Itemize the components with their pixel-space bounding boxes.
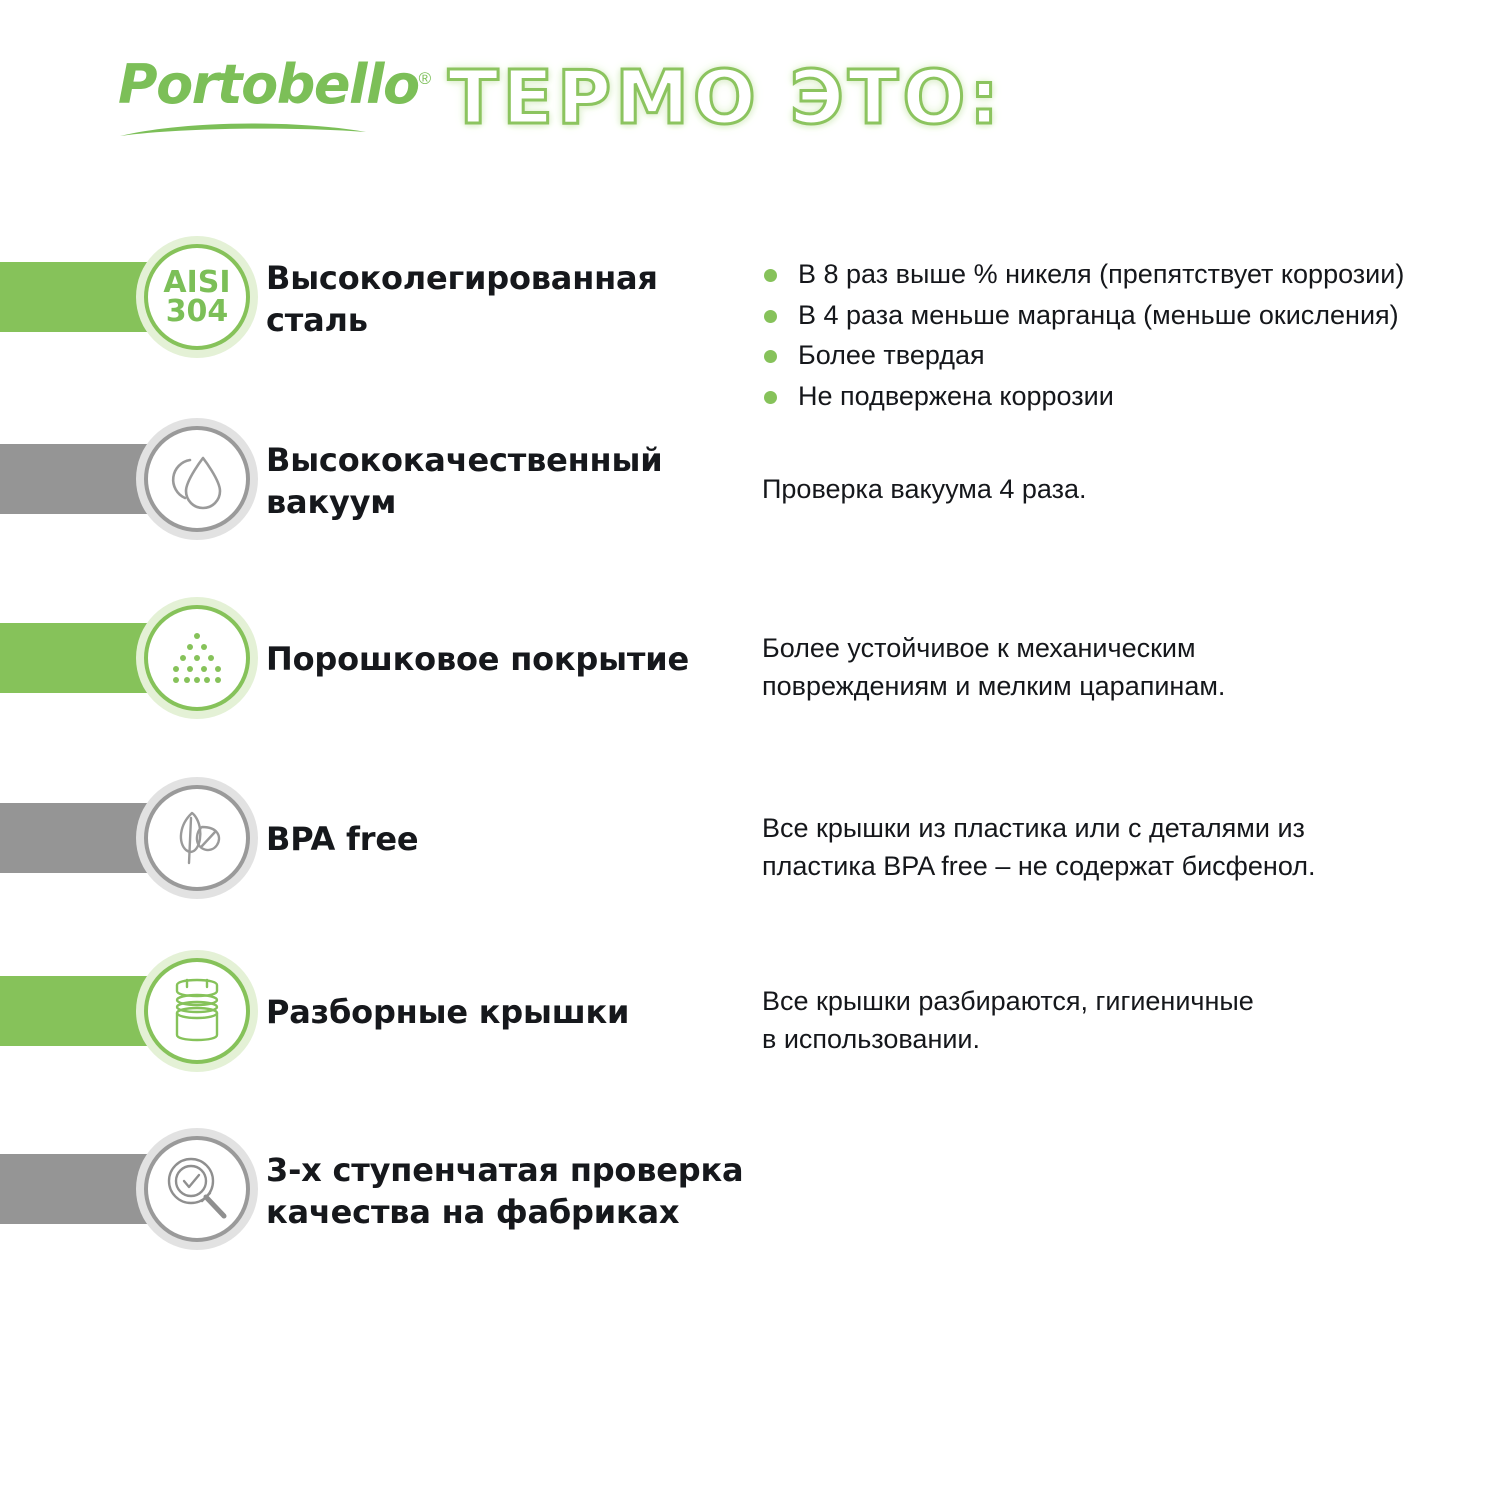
droplet-glyph	[164, 446, 230, 512]
feature-bar	[0, 1154, 152, 1224]
water-droplet-icon	[136, 418, 258, 540]
disassembled-lid-icon	[136, 950, 258, 1072]
list-item: Не подвержена коррозии	[762, 376, 1404, 417]
badge-glyph	[144, 958, 250, 1064]
leaves-icon	[136, 777, 258, 899]
bullet-dot-icon	[764, 350, 777, 363]
powder-dots-icon	[136, 597, 258, 719]
feature-description: Все крышки разбираются, гигиеничные в ис…	[762, 982, 1254, 1059]
feature-title: Порошковое покрытие	[266, 639, 689, 681]
feature-bar	[0, 262, 152, 332]
feature-description: Проверка вакуума 4 раза.	[762, 470, 1087, 508]
aisi-badge-line2: 304	[163, 297, 230, 326]
feature-title: Высоколегированная сталь	[266, 258, 658, 341]
powder-dots-glyph	[166, 627, 228, 689]
lid-parts-glyph	[163, 975, 231, 1047]
feature-bar	[0, 623, 152, 693]
aisi-badge-line1: AISI	[163, 268, 230, 297]
aisi-badge-text: AISI 304	[163, 268, 230, 327]
feature-title: BPA free	[266, 819, 418, 861]
page-title: ТЕРМО ЭТО:	[448, 52, 1003, 145]
bullet-text: Более твердая	[798, 340, 985, 370]
badge-glyph	[144, 785, 250, 891]
feature-title: Высококачественный вакуум	[266, 440, 662, 523]
bullet-dot-icon	[764, 310, 777, 323]
brand-logo-wordmark: Portobello	[118, 53, 419, 116]
feature-bar	[0, 803, 152, 873]
bullet-text: В 4 раза меньше марганца (меньше окислен…	[798, 300, 1399, 330]
feature-title: 3-х ступенчатая проверка качества на фаб…	[266, 1150, 743, 1233]
badge-glyph	[144, 1136, 250, 1242]
bullet-dot-icon	[764, 391, 777, 404]
feature-description: Более устойчивое к механическим поврежде…	[762, 629, 1225, 706]
registered-trademark-icon: ®	[419, 69, 430, 88]
feature-bar	[0, 976, 152, 1046]
magnifier-check-icon	[136, 1128, 258, 1250]
bullet-text: В 8 раз выше % никеля (препятствует корр…	[798, 259, 1404, 289]
badge-glyph	[144, 605, 250, 711]
feature-bar	[0, 444, 152, 514]
brand-logo-text: Portobello®	[118, 58, 408, 112]
bullet-text: Не подвержена коррозии	[798, 381, 1114, 411]
feature-bullet-list: В 8 раз выше % никеля (препятствует корр…	[762, 254, 1404, 416]
brand-logo: Portobello®	[118, 58, 408, 153]
feature-description: Все крышки из пластика или с деталями из…	[762, 809, 1316, 886]
aisi-304-badge-icon: AISI 304	[136, 236, 258, 358]
swoosh-underline-icon	[118, 118, 368, 140]
magnifier-glyph	[162, 1154, 232, 1224]
badge-glyph: AISI 304	[144, 244, 250, 350]
leaves-glyph	[164, 805, 230, 871]
page-header: Portobello® ТЕРМО ЭТО:	[0, 0, 1500, 190]
feature-title: Разборные крышки	[266, 992, 629, 1034]
list-item: Более твердая	[762, 335, 1404, 376]
list-item: В 4 раза меньше марганца (меньше окислен…	[762, 295, 1404, 336]
list-item: В 8 раз выше % никеля (препятствует корр…	[762, 254, 1404, 295]
bullet-dot-icon	[764, 269, 777, 282]
badge-glyph	[144, 426, 250, 532]
